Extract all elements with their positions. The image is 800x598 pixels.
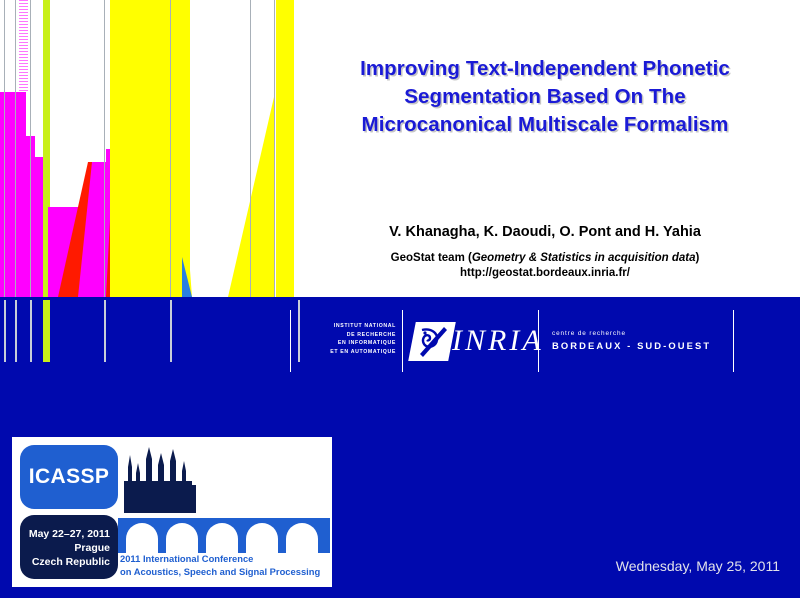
title-line-3: Microcanonical Multiscale Formalism [300, 111, 790, 139]
art-guide-line [104, 0, 105, 297]
art-wedge-blue [182, 257, 192, 297]
art-guide-line [4, 0, 5, 297]
title-line-2: Segmentation Based On The [300, 83, 790, 111]
icassp-logo: ICASSP May 22–27, 2011 Prague Czech Repu… [12, 437, 332, 587]
icassp-date-line1: May 22–27, 2011 [29, 527, 110, 541]
inria-wordmark: INRIA [452, 324, 544, 358]
icassp-date-box: May 22–27, 2011 Prague Czech Republic [20, 515, 118, 579]
icassp-conference-line2: on Acoustics, Speech and Signal Processi… [120, 566, 330, 579]
inria-subtitle: INSTITUT NATIONAL DE RECHERCHE EN INFORM… [304, 322, 396, 356]
art-wedge-yellow-right [228, 97, 274, 297]
inria-subtitle-line2: DE RECHERCHE [304, 331, 396, 340]
art-band-yellow-far [276, 0, 294, 297]
strip-line [104, 300, 106, 362]
band-separator-left [290, 310, 291, 372]
abstract-spectrogram-graphic [0, 0, 302, 297]
icassp-date-line2: Prague [74, 541, 110, 555]
icassp-acronym-box: ICASSP [20, 445, 118, 509]
art-dots-pink [19, 0, 28, 92]
presentation-slide: Improving Text-Independent Phonetic Segm… [0, 0, 800, 598]
inria-bird-icon [414, 324, 450, 359]
inria-subtitle-line3: EN INFORMATIQUE [304, 339, 396, 348]
affiliation-block: GeoStat team (Geometry & Statistics in a… [300, 251, 790, 281]
band-separator-mid2 [538, 310, 539, 372]
band-separator-right [733, 310, 734, 372]
icassp-conference-name: 2011 International Conference on Acousti… [120, 553, 330, 578]
bridge-icon [118, 515, 330, 553]
icassp-date-line3: Czech Republic [32, 555, 110, 569]
strip-line [170, 300, 172, 362]
team-url[interactable]: http://geostat.bordeaux.inria.fr/ [300, 266, 790, 281]
inria-centre-name: BORDEAUX - SUD-OUEST [552, 340, 711, 351]
team-suffix: ) [696, 252, 700, 264]
art-guide-line [250, 0, 251, 297]
strip-line [30, 300, 32, 362]
icassp-acronym: ICASSP [20, 465, 118, 489]
strip-line [15, 300, 17, 362]
team-prefix: GeoStat team ( [391, 252, 472, 264]
inria-centre-label: centre de recherche [552, 330, 626, 337]
inria-subtitle-line4: ET EN AUTOMATIQUE [304, 348, 396, 357]
inria-subtitle-line1: INSTITUT NATIONAL [304, 322, 396, 331]
author-list: V. Khanagha, K. Daoudi, O. Pont and H. Y… [300, 224, 790, 240]
strip-line [4, 300, 6, 362]
art-wedge-yellow-a [170, 0, 192, 297]
title-line-1: Improving Text-Independent Phonetic [300, 55, 790, 83]
art-guide-line [274, 0, 275, 297]
strip-band-green [43, 300, 50, 362]
team-line: GeoStat team (Geometry & Statistics in a… [300, 251, 790, 266]
inria-logo-band: INSTITUT NATIONAL DE RECHERCHE EN INFORM… [290, 310, 734, 372]
art-guide-line [15, 0, 16, 297]
art-guide-line [30, 0, 31, 297]
team-italic: Geometry & Statistics in acquisition dat… [472, 252, 696, 264]
prague-skyline-icon [120, 441, 208, 513]
art-guide-line [170, 0, 171, 297]
slide-date: Wednesday, May 25, 2011 [616, 558, 780, 574]
art-band-yellow-wide [110, 0, 170, 297]
art-wedge-magenta-e [78, 162, 92, 297]
band-separator-mid1 [402, 310, 403, 372]
page-title: Improving Text-Independent Phonetic Segm… [300, 55, 790, 139]
icassp-conference-line1: 2011 International Conference [120, 553, 330, 566]
